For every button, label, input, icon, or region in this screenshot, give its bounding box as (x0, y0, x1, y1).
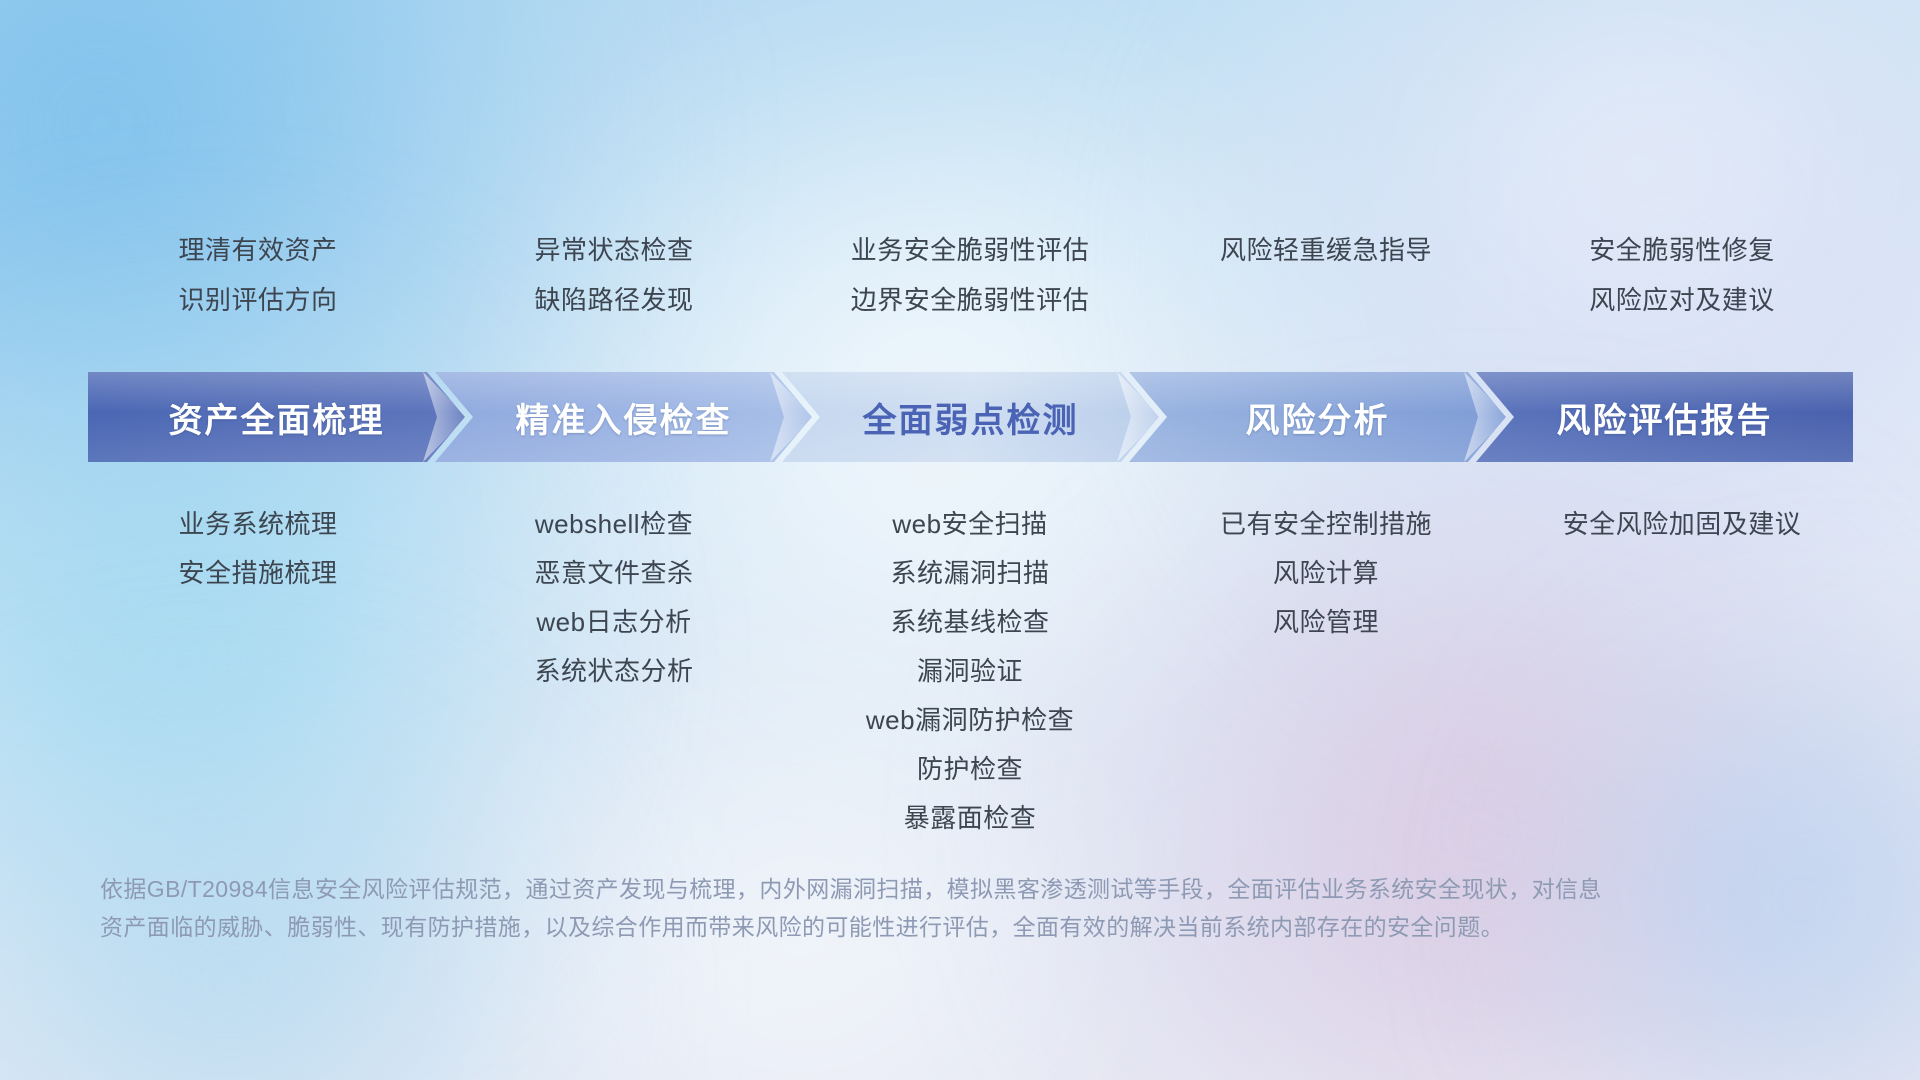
top-descriptors-column-2: 异常状态检查 缺陷路径发现 (436, 225, 792, 340)
top-descriptor-item: 风险应对及建议 (1589, 275, 1775, 325)
bottom-details-column-3: web安全扫描 系统漏洞扫描 系统基线检查 漏洞验证 web漏洞防护检查 防护检… (792, 500, 1148, 843)
process-arrow-band: 资产全面梳理 精准入侵检查 全面弱点检测 风险分析 风险评估报告 (88, 372, 1853, 462)
process-stage-weakness-detection[interactable]: 全面弱点检测 (782, 372, 1159, 462)
top-descriptor-row: 理清有效资产 识别评估方向 异常状态检查 缺陷路径发现 业务安全脆弱性评估 边界… (80, 225, 1860, 340)
detail-item: 系统基线检查 (890, 598, 1049, 647)
process-stage-label: 全面弱点检测 (863, 393, 1079, 442)
top-descriptors-column-5: 安全脆弱性修复 风险应对及建议 (1504, 225, 1860, 340)
detail-item: 安全风险加固及建议 (1563, 500, 1802, 549)
bottom-details-column-4: 已有安全控制措施 风险计算 风险管理 (1148, 500, 1504, 647)
process-stage-label: 资产全面梳理 (169, 393, 385, 442)
detail-item: web日志分析 (536, 598, 691, 647)
process-stage-label: 风险评估报告 (1557, 393, 1773, 442)
detail-item: 漏洞验证 (917, 647, 1023, 696)
detail-item: 业务系统梳理 (178, 500, 337, 549)
detail-item: 已有安全控制措施 (1220, 500, 1432, 549)
top-descriptor-item: 业务安全脆弱性评估 (851, 225, 1090, 275)
bottom-details-column-2: webshell检查 恶意文件查杀 web日志分析 系统状态分析 (436, 500, 792, 696)
detail-item: web安全扫描 (892, 500, 1047, 549)
top-descriptors-column-1: 理清有效资产 识别评估方向 (80, 225, 436, 340)
process-stage-label: 风险分析 (1246, 393, 1390, 442)
top-descriptor-item: 缺陷路径发现 (534, 275, 693, 325)
detail-item: 风险计算 (1273, 549, 1379, 598)
bottom-details-column-5: 安全风险加固及建议 (1504, 500, 1860, 549)
footer-line-1: 依据GB/T20984信息安全风险评估规范，通过资产发现与梳理，内外网漏洞扫描，… (100, 870, 1830, 908)
footer-line-2: 资产面临的威胁、脆弱性、现有防护措施，以及综合作用而带来风险的可能性进行评估，全… (100, 908, 1830, 946)
process-stage-risk-report[interactable]: 风险评估报告 (1476, 372, 1853, 462)
detail-item: webshell检查 (535, 500, 693, 549)
process-stage-label: 精准入侵检查 (516, 393, 732, 442)
detail-item: web漏洞防护检查 (866, 696, 1074, 745)
detail-item: 系统状态分析 (534, 647, 693, 696)
top-descriptor-item: 边界安全脆弱性评估 (851, 275, 1090, 325)
detail-item: 恶意文件查杀 (534, 549, 693, 598)
bottom-detail-row: 业务系统梳理 安全措施梳理 webshell检查 恶意文件查杀 web日志分析 … (80, 500, 1860, 843)
top-descriptor-item: 安全脆弱性修复 (1589, 225, 1775, 275)
detail-item: 系统漏洞扫描 (890, 549, 1049, 598)
top-descriptors-column-3: 业务安全脆弱性评估 边界安全脆弱性评估 (792, 225, 1148, 340)
detail-item: 安全措施梳理 (178, 549, 337, 598)
top-descriptor-item: 风险轻重缓急指导 (1220, 225, 1432, 275)
top-descriptors-column-4: 风险轻重缓急指导 (1148, 225, 1504, 340)
process-stage-asset-inventory[interactable]: 资产全面梳理 (88, 372, 465, 462)
top-descriptor-item: 理清有效资产 (178, 225, 337, 275)
footer-description: 依据GB/T20984信息安全风险评估规范，通过资产发现与梳理，内外网漏洞扫描，… (100, 870, 1830, 946)
top-descriptor-item: 识别评估方向 (178, 275, 337, 325)
process-stage-intrusion-check[interactable]: 精准入侵检查 (435, 372, 812, 462)
bottom-details-column-1: 业务系统梳理 安全措施梳理 (80, 500, 436, 598)
detail-item: 防护检查 (917, 745, 1023, 794)
top-descriptor-item: 异常状态检查 (534, 225, 693, 275)
detail-item: 暴露面检查 (904, 794, 1037, 843)
detail-item: 风险管理 (1273, 598, 1379, 647)
process-stage-risk-analysis[interactable]: 风险分析 (1129, 372, 1506, 462)
